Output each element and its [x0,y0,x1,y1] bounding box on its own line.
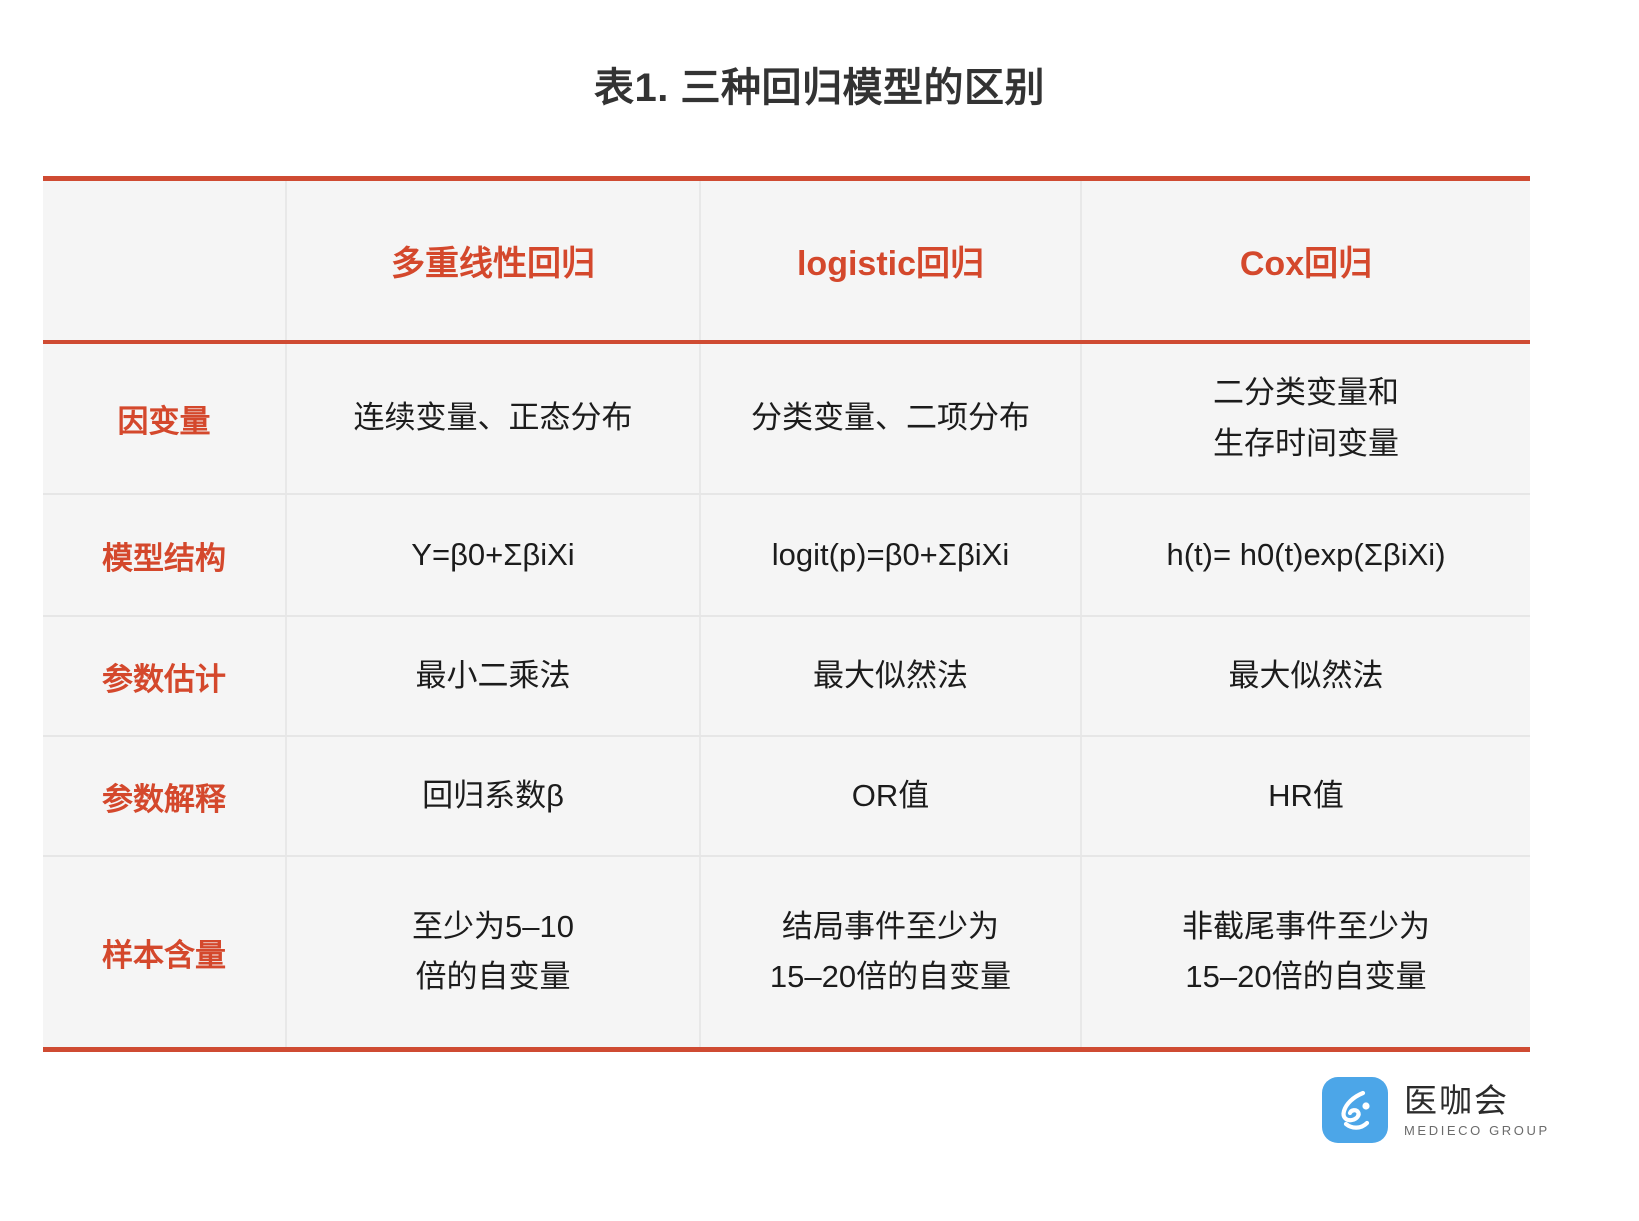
column-header-cox: Cox回归 [1081,181,1530,342]
cell-line: 最大似然法 [1092,651,1520,701]
logo-text-block: 医咖会 MEDIECO GROUP [1404,1084,1550,1137]
cell-line: HR值 [1092,771,1520,821]
cell-line: 最小二乘法 [297,651,689,701]
cell-parameter-interpretation-linear: 回归系数β [286,736,700,856]
cell-model-structure-cox: h(t)= h0(t)exp(ΣβiXi) [1081,494,1530,616]
table-row: 参数解释 回归系数β OR值 HR值 [43,736,1530,856]
cell-line: 二分类变量和 [1092,368,1520,418]
cell-line: 非截尾事件至少为 [1092,902,1520,952]
column-header-logistic: logistic回归 [700,181,1081,342]
table-header: 多重线性回归 logistic回归 Cox回归 [43,181,1530,342]
cell-line: 15–20倍的自变量 [1092,952,1520,1002]
medieco-brand-icon [1322,1077,1388,1143]
table-body: 因变量 连续变量、正态分布 分类变量、二项分布 二分类变量和 生存时间变量 模型… [43,342,1530,1047]
cell-parameter-interpretation-logistic: OR值 [700,736,1081,856]
cell-parameter-interpretation-cox: HR值 [1081,736,1530,856]
table-row: 因变量 连续变量、正态分布 分类变量、二项分布 二分类变量和 生存时间变量 [43,342,1530,494]
regression-comparison-table: 多重线性回归 logistic回归 Cox回归 因变量 连续变量、正态分布 分类… [43,181,1530,1047]
cell-parameter-estimation-cox: 最大似然法 [1081,616,1530,736]
cell-parameter-estimation-linear: 最小二乘法 [286,616,700,736]
cell-line: h(t)= h0(t)exp(ΣβiXi) [1092,530,1520,580]
cell-dependent-variable-linear: 连续变量、正态分布 [286,342,700,494]
logo-name-cn: 医咖会 [1404,1084,1550,1117]
column-header-linear: 多重线性回归 [286,181,700,342]
page-title: 表1. 三种回归模型的区别 [0,64,1639,112]
cell-line: 结局事件至少为 [711,902,1070,952]
cell-line: 生存时间变量 [1092,419,1520,469]
cell-line: Y=β0+ΣβiXi [297,530,689,580]
cell-line: 倍的自变量 [297,952,689,1002]
row-label-dependent-variable: 因变量 [43,342,286,494]
brand-logo: 医咖会 MEDIECO GROUP [1322,1077,1550,1143]
cell-model-structure-logistic: logit(p)=β0+ΣβiXi [700,494,1081,616]
cell-dependent-variable-cox: 二分类变量和 生存时间变量 [1081,342,1530,494]
row-label-parameter-interpretation: 参数解释 [43,736,286,856]
cell-parameter-estimation-logistic: 最大似然法 [700,616,1081,736]
logo-name-en: MEDIECO GROUP [1404,1124,1550,1137]
cell-sample-size-cox: 非截尾事件至少为 15–20倍的自变量 [1081,856,1530,1047]
cell-line: 回归系数β [297,771,689,821]
cell-sample-size-linear: 至少为5–10 倍的自变量 [286,856,700,1047]
cell-line: 至少为5–10 [297,902,689,952]
table-row: 参数估计 最小二乘法 最大似然法 最大似然法 [43,616,1530,736]
cell-line: 连续变量、正态分布 [297,393,689,443]
table-header-row: 多重线性回归 logistic回归 Cox回归 [43,181,1530,342]
cell-line: 分类变量、二项分布 [711,393,1070,443]
cell-dependent-variable-logistic: 分类变量、二项分布 [700,342,1081,494]
cell-line: 最大似然法 [711,651,1070,701]
table-row: 样本含量 至少为5–10 倍的自变量 结局事件至少为 15–20倍的自变量 非截… [43,856,1530,1047]
cell-line: 15–20倍的自变量 [711,952,1070,1002]
cell-line: OR值 [711,771,1070,821]
comparison-table-container: 多重线性回归 logistic回归 Cox回归 因变量 连续变量、正态分布 分类… [43,176,1530,1052]
cell-line: logit(p)=β0+ΣβiXi [711,530,1070,580]
cell-model-structure-linear: Y=β0+ΣβiXi [286,494,700,616]
row-label-sample-size: 样本含量 [43,856,286,1047]
cell-sample-size-logistic: 结局事件至少为 15–20倍的自变量 [700,856,1081,1047]
page-root: 表1. 三种回归模型的区别 多重线性回归 logistic回归 Cox回归 因变… [0,0,1639,1221]
table-row: 模型结构 Y=β0+ΣβiXi logit(p)=β0+ΣβiXi h(t)= … [43,494,1530,616]
row-label-model-structure: 模型结构 [43,494,286,616]
row-label-parameter-estimation: 参数估计 [43,616,286,736]
table-corner-cell [43,181,286,342]
